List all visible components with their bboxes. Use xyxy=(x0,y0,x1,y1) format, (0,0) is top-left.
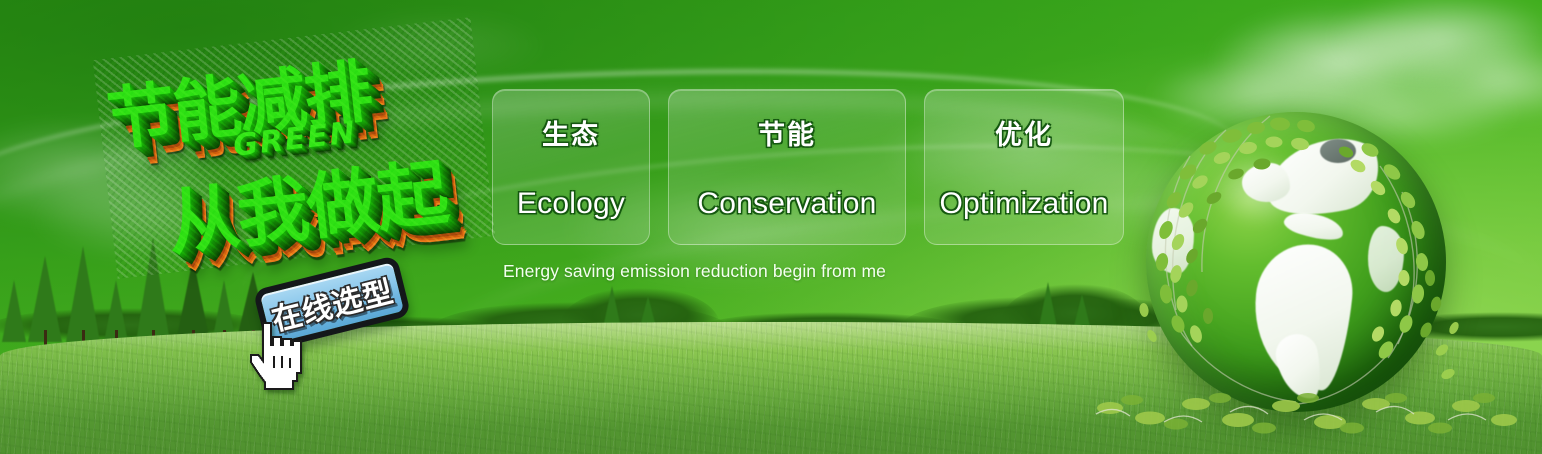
eco-hero-banner: 节能减排 GREEN 从我做起 在线选型 生态 Ecology 节能 Conse… xyxy=(0,0,1542,454)
feature-card-list: 生态 Ecology 节能 Conservation 优化 Optimizati… xyxy=(492,89,1124,245)
feature-card-conservation[interactable]: 节能 Conservation xyxy=(668,89,906,245)
headline-3d: 节能减排 GREEN 从我做起 xyxy=(93,17,495,279)
hand-pointer-icon xyxy=(242,316,304,392)
feature-card-title-en: Optimization xyxy=(939,189,1108,219)
feature-card-title-cn: 节能 xyxy=(758,122,816,149)
feature-card-optimization[interactable]: 优化 Optimization xyxy=(924,89,1124,245)
feature-card-ecology[interactable]: 生态 Ecology xyxy=(492,89,650,245)
feature-card-title-cn: 生态 xyxy=(542,122,600,149)
feature-card-title-cn: 优化 xyxy=(995,122,1053,149)
green-globe-icon xyxy=(1146,112,1446,412)
banner-tagline: Energy saving emission reduction begin f… xyxy=(503,261,886,282)
feature-card-title-en: Ecology xyxy=(517,189,625,219)
feature-card-title-en: Conservation xyxy=(697,189,876,219)
